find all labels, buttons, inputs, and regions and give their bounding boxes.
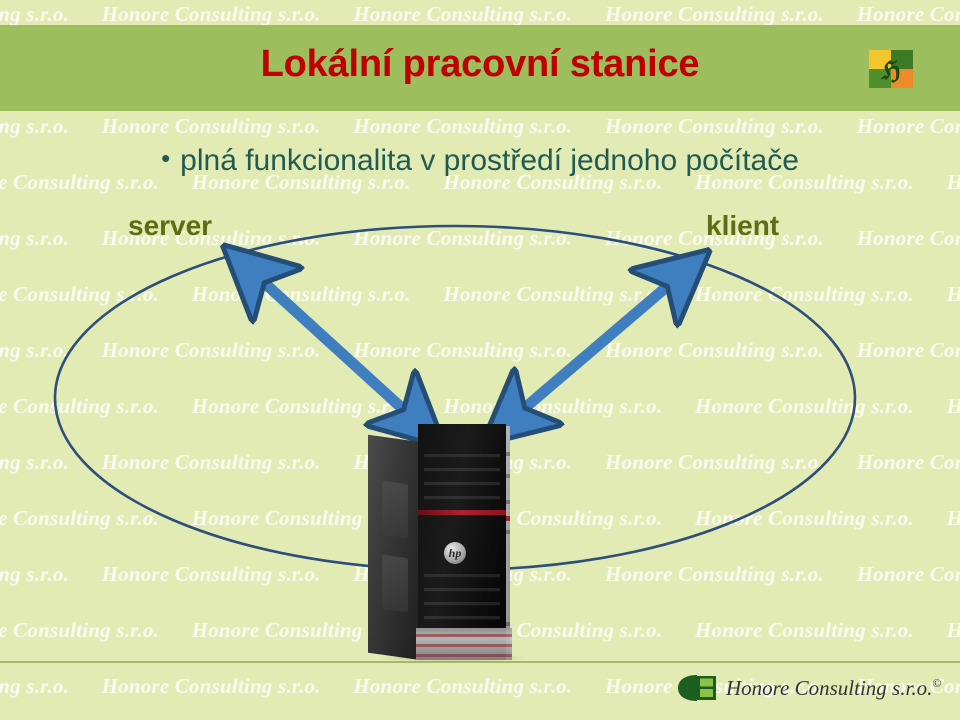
bullet-line: •plná funkcionalita v prostředí jednoho … bbox=[0, 143, 960, 178]
computer-front-panel: hp bbox=[418, 424, 506, 660]
svg-text:ℌ: ℌ bbox=[881, 58, 901, 85]
slide-canvas: Honore Consulting s.r.o. Honore Consulti… bbox=[0, 0, 960, 720]
computer-side-panel bbox=[368, 435, 420, 660]
label-server: server bbox=[128, 210, 212, 242]
page-title: Lokální pracovní stanice bbox=[0, 43, 960, 86]
bullet-text: plná funkcionalita v prostředí jednoho p… bbox=[180, 144, 799, 177]
bullet-marker-icon: • bbox=[161, 143, 170, 174]
footer-company-name: Honore Consulting s.r.o. bbox=[726, 676, 932, 700]
computer-base bbox=[416, 628, 512, 660]
honore-monogram-logo-icon: ℌ bbox=[869, 50, 913, 88]
copyright-symbol: © bbox=[932, 676, 941, 690]
footer-company-text: Honore Consulting s.r.o.© bbox=[726, 676, 941, 701]
label-klient: klient bbox=[706, 210, 779, 242]
arrow-server-to-pc bbox=[248, 268, 415, 420]
honore-leaf-logo-icon bbox=[676, 674, 718, 702]
arrow-klient-to-pc bbox=[513, 272, 684, 418]
hp-logo-icon: hp bbox=[444, 542, 466, 564]
computer-tower-image: hp bbox=[368, 424, 543, 660]
